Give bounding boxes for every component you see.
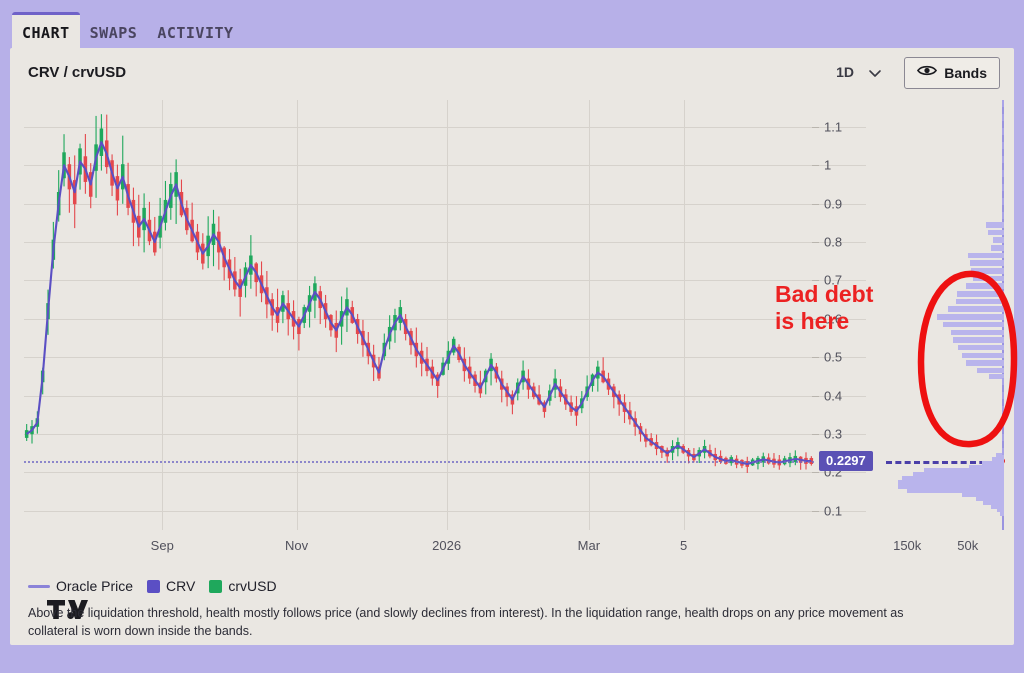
current-price-badge: 0.2297	[819, 451, 873, 471]
page-title: CRV / crvUSD	[28, 64, 126, 81]
x-axis-label: Sep	[151, 538, 174, 553]
legend-label-crv: CRV	[166, 578, 195, 594]
current-price-dotted-line	[24, 461, 814, 463]
chart-widget: CHART SWAPS ACTIVITY CRV / crvUSD 1D Ban…	[0, 0, 1024, 673]
interval-selector[interactable]: 1D	[836, 64, 854, 80]
tab-swaps[interactable]: SWAPS	[80, 18, 148, 50]
x-axis-label: Nov	[285, 538, 308, 553]
y-axis-label: 0.3	[824, 427, 842, 442]
histogram-axis-label: 150k	[893, 538, 921, 553]
histogram-bar	[968, 253, 1004, 259]
x-axis-label: 5	[680, 538, 687, 553]
tab-chart[interactable]: CHART	[12, 12, 80, 50]
histogram-bar-lower	[1000, 507, 1004, 517]
annotation-circle	[915, 266, 1020, 451]
legend-item-oracle-price: Oracle Price	[28, 578, 133, 594]
histogram-bar	[986, 222, 1004, 228]
legend-line-marker	[28, 585, 50, 588]
legend-item-crvusd: crvUSD	[209, 578, 276, 594]
histogram-dashed-upper	[1002, 100, 1004, 219]
y-axis-label: 1	[824, 158, 831, 173]
chart-caption: Above the liquidation threshold, health …	[28, 604, 928, 640]
chevron-down-icon[interactable]	[868, 66, 882, 80]
eye-icon	[917, 64, 937, 82]
legend-item-crv: CRV	[147, 578, 195, 594]
bands-button-label: Bands	[944, 65, 987, 81]
chart-card: CRV / crvUSD 1D Bands 1.110.90.80.70.60.…	[10, 48, 1014, 645]
histogram-bar	[993, 237, 1004, 243]
y-axis-label: 0.5	[824, 350, 842, 365]
bands-toggle-button[interactable]: Bands	[904, 57, 1000, 89]
y-axis-label: 0.4	[824, 388, 842, 403]
x-axis-label: 2026	[432, 538, 461, 553]
y-axis-label: 0.6	[824, 311, 842, 326]
price-series	[24, 100, 814, 530]
tab-activity[interactable]: ACTIVITY	[147, 18, 243, 50]
legend-swatch-crvusd	[209, 580, 222, 593]
chart-legend: Oracle Price CRV crvUSD	[28, 578, 283, 594]
chart-plot-area[interactable]: 1.110.90.80.70.60.50.40.30.20.1 SepNov20…	[24, 100, 1000, 588]
y-axis-label: 0.1	[824, 503, 842, 518]
legend-label-crvusd: crvUSD	[228, 578, 276, 594]
y-axis-label: 0.7	[824, 273, 842, 288]
histogram-bar	[988, 230, 1004, 236]
y-axis-label: 0.8	[824, 235, 842, 250]
histogram-axis-label: 50k	[957, 538, 978, 553]
legend-swatch-crv	[147, 580, 160, 593]
legend-label-oracle-price: Oracle Price	[56, 578, 133, 594]
histogram-bar	[991, 245, 1004, 251]
y-axis-label: 0.9	[824, 196, 842, 211]
y-axis-label: 1.1	[824, 119, 842, 134]
tab-bar: CHART SWAPS ACTIVITY	[0, 6, 1024, 50]
x-axis-label: Mar	[578, 538, 600, 553]
chart-header: CRV / crvUSD 1D Bands	[10, 48, 1014, 98]
